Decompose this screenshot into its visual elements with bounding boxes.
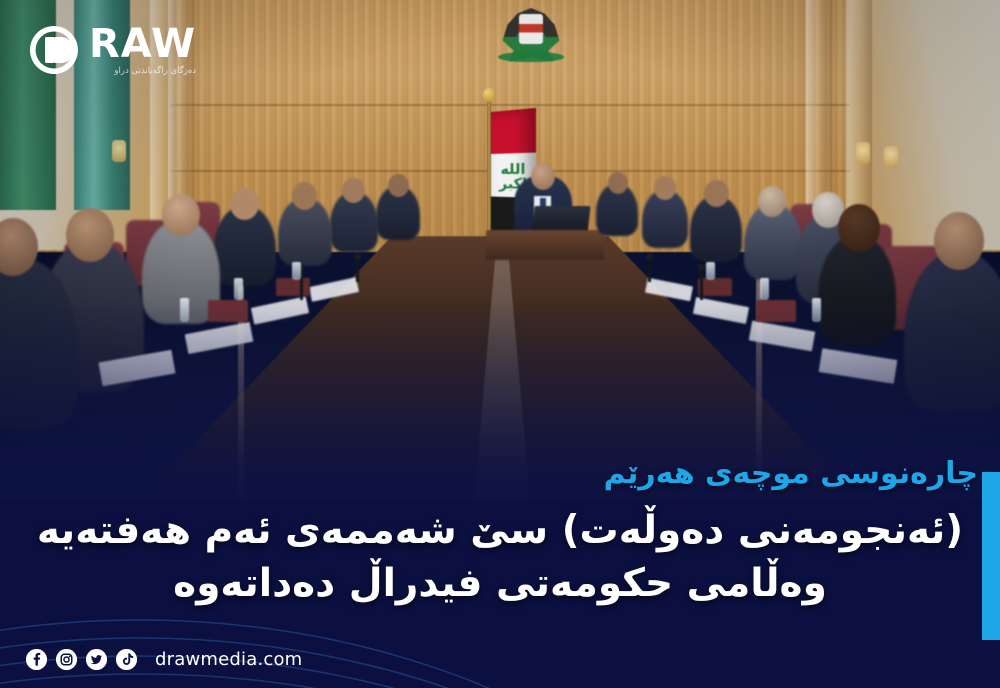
facebook-icon[interactable] — [26, 649, 47, 670]
document — [749, 321, 816, 352]
document — [819, 348, 898, 384]
footer-bar: drawmedia.com — [26, 649, 302, 670]
logo-text: RAW — [89, 24, 196, 64]
kicker-text: چارەنوسی موچەی هەرێم — [604, 456, 978, 491]
twitter-icon[interactable] — [86, 649, 107, 670]
delegate-head — [608, 172, 628, 194]
water-bottle — [706, 262, 715, 280]
delegate-head — [838, 204, 880, 252]
delegate-woman — [818, 236, 896, 346]
instagram-icon[interactable] — [56, 649, 77, 670]
headline-text: (ئەنجومەنی دەوڵەت) سێ شەممەی ئەم هەفتەیە… — [22, 506, 978, 609]
delegate-head — [934, 212, 984, 270]
logo-wordmark: RAW دەزگای راگەیاندنی دراو — [89, 24, 196, 76]
tiktok-icon[interactable] — [116, 649, 137, 670]
d-monogram-icon — [28, 24, 80, 76]
folder — [698, 278, 732, 296]
microphone-head — [646, 253, 653, 260]
draw-media-logo[interactable]: RAW دەزگای راگەیاندنی دراو — [28, 24, 196, 76]
delegate-head — [654, 176, 676, 200]
microphone — [648, 258, 651, 282]
delegate-head — [704, 180, 729, 207]
document — [645, 278, 693, 302]
delegate-foreground — [904, 252, 1000, 412]
headline-line-1: (ئەنجومەنی دەوڵەت) سێ شەممەی ئەم هەفتەیە — [22, 506, 978, 556]
headline-line-2: وەڵامی حکومەتی فیدراڵ دەداتەوە — [22, 559, 978, 609]
delegate-head — [758, 186, 786, 217]
water-bottle — [812, 298, 821, 322]
document — [693, 297, 749, 324]
emblem-shield — [519, 14, 543, 44]
cyan-accent-bar — [982, 472, 1000, 640]
flag-finial-icon — [483, 88, 495, 102]
website-url[interactable]: drawmedia.com — [155, 649, 302, 670]
folder — [756, 300, 796, 322]
news-graphic-card: الله اكبر — [0, 0, 1000, 688]
microphone-head — [698, 264, 705, 271]
logo-subtitle: دەزگای راگەیاندنی دراو — [89, 67, 196, 76]
microphone — [700, 270, 703, 300]
right-delegate-row — [0, 150, 1000, 450]
emblem-base — [498, 52, 564, 62]
water-bottle — [760, 278, 769, 300]
